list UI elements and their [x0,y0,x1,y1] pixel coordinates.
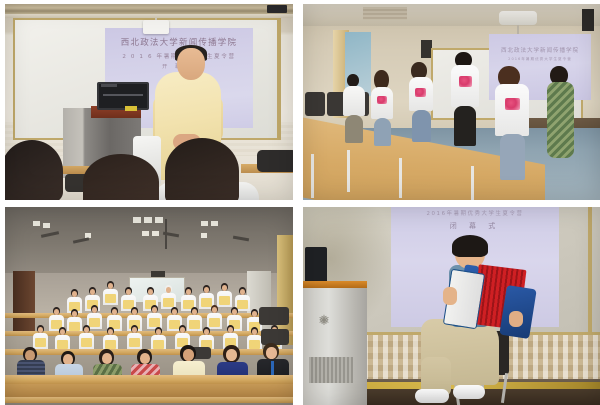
flower-emblem-icon: ❅ [315,311,333,329]
speaker-head [177,48,205,80]
desk-row-foreground [5,397,293,403]
performer-hair [452,235,488,257]
legs [500,134,525,180]
projection-title-line1: 西北政法大学新闻传播学院 [107,36,251,48]
table-leg [311,154,314,198]
tshirt-logo [459,76,472,87]
door [13,271,35,333]
projection-title-line2: 闭 幕 式 [393,221,557,231]
performer-right-hand [509,311,523,327]
audience-head-right [165,138,239,200]
photo-opening-lecture[interactable]: 西北政法大学新闻传播学院 2 0 1 6 年暑期优秀大学生夏令营 开 幕 式 [5,4,293,200]
projector-pole [165,219,167,249]
performer-left-hand [443,287,457,305]
photo-group-portrait[interactable] [5,207,293,405]
desk-row-front [5,375,293,384]
photo-group-mingling[interactable]: 西北政法大学新闻传播学院 2016年暑期优秀大学生夏令营 [303,4,600,200]
lecture-chair [261,329,289,345]
monitor-brand-label [101,84,117,87]
ceiling-light [142,231,149,236]
projection-title-line1: 2016年暑期优秀大学生夏令营 [393,209,557,217]
audience-chair-right [257,150,293,172]
photo-grid: 西北政法大学新闻传播学院 2 0 1 6 年暑期优秀大学生夏令营 开 幕 式 [5,4,600,405]
whiteboard-right-frame [588,207,592,335]
chair [305,92,325,116]
ceiling-light [211,221,218,226]
tshirt-logo [415,88,426,97]
legs [374,118,391,146]
torso [495,84,529,136]
table-leg [399,158,402,198]
ceiling-light [155,217,163,223]
ceiling-light [43,223,50,228]
ceiling-light [144,217,152,223]
table-leg [347,150,350,192]
photo-collage: 西北政法大学新闻传播学院 2 0 1 6 年暑期优秀大学生夏令营 开 幕 式 [0,0,600,405]
ceiling [303,4,600,26]
performer-shoe-right [453,385,485,399]
dress [547,82,574,158]
yellow-sticker [125,106,137,111]
ceiling-beam [5,4,293,14]
wall-speaker-icon [267,5,287,13]
photo-accordion-performance[interactable]: 2016年暑期优秀大学生夏令营 闭 幕 式 ❅ [303,207,600,405]
lectern-monitor [305,247,327,283]
performer-shoe-left [415,389,449,403]
ceiling-projector [499,11,537,25]
ceiling-panel [363,7,407,20]
ceiling-light [201,233,207,238]
lecture-chair [259,307,289,325]
projection-title-line2: 2016年暑期优秀大学生夏令营 [491,57,589,62]
torso [343,86,365,116]
tshirt-logo [505,98,520,110]
audience-head-left [5,140,63,200]
tshirt-logo [377,96,387,104]
lectern [303,281,367,405]
legs [345,115,363,143]
ceiling-light [133,217,141,223]
lectern-accent-band [303,281,367,288]
wall-speaker-right [582,9,594,31]
ceiling-light [33,221,40,226]
table-leg [471,166,474,200]
lectern-vent [309,357,353,383]
ceiling-speaker [143,20,169,34]
ceiling-light [201,221,208,226]
ceiling-light [152,231,159,236]
legs [454,106,476,146]
projection-title-line1: 西北政法大学新闻传播学院 [491,46,589,54]
legs [412,110,431,142]
